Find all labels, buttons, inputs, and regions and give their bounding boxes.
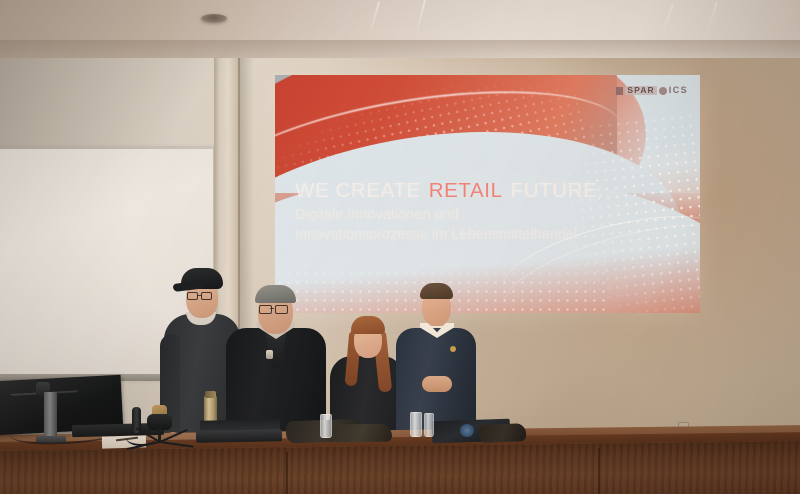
laptop-front [196, 429, 282, 442]
slide-text-panel [275, 75, 617, 171]
spar-ics-logo: SPAR ICS [616, 86, 688, 95]
slide-subline: Digitale Innovationen und Innovationspro… [295, 205, 577, 245]
person-2-glasses-icon [259, 305, 293, 313]
person-4-lapel-pin [450, 346, 456, 352]
subline-line-1: Digitale Innovationen und [295, 205, 577, 225]
subline-line-2: Innovationsprozesse im Lebensmittelhande… [295, 225, 577, 245]
laptop-sticker-icon [460, 424, 474, 437]
person-2-hair [255, 285, 296, 303]
person-2-name-badge [266, 350, 273, 359]
water-glass [320, 414, 332, 438]
water-glass [410, 412, 422, 437]
person-4-hands [422, 376, 452, 392]
table-wood-grain [0, 441, 800, 494]
headline-part1: WE CREATE [295, 179, 421, 202]
table-panel-seam [286, 452, 288, 494]
folded-jacket-2 [332, 423, 392, 442]
ceiling-light-icon [201, 14, 227, 23]
thermos-cap [205, 391, 216, 398]
bag [480, 423, 527, 443]
person-3-hair-top [351, 316, 385, 334]
presentation-slide: SPAR ICS WE CREATERETAILFUTURE. Digitale… [275, 75, 700, 313]
water-glass [424, 413, 434, 437]
headline-accent: RETAIL [429, 179, 503, 202]
table-panel-seam [598, 448, 600, 494]
logo-ics-text: ICS [669, 86, 688, 95]
logo-spar-text: SPAR [625, 86, 656, 95]
whiteboard-frame [0, 146, 217, 149]
headline-part2: FUTURE. [511, 179, 604, 202]
slide-headline: WE CREATERETAILFUTURE. [295, 179, 604, 203]
logo-bar [616, 87, 623, 95]
photo-canvas: SPAR ICS WE CREATERETAILFUTURE. Digitale… [0, 0, 800, 494]
person-1-glasses-icon [187, 292, 217, 300]
logo-dot-icon [659, 87, 667, 95]
person-4-hair [420, 283, 453, 299]
